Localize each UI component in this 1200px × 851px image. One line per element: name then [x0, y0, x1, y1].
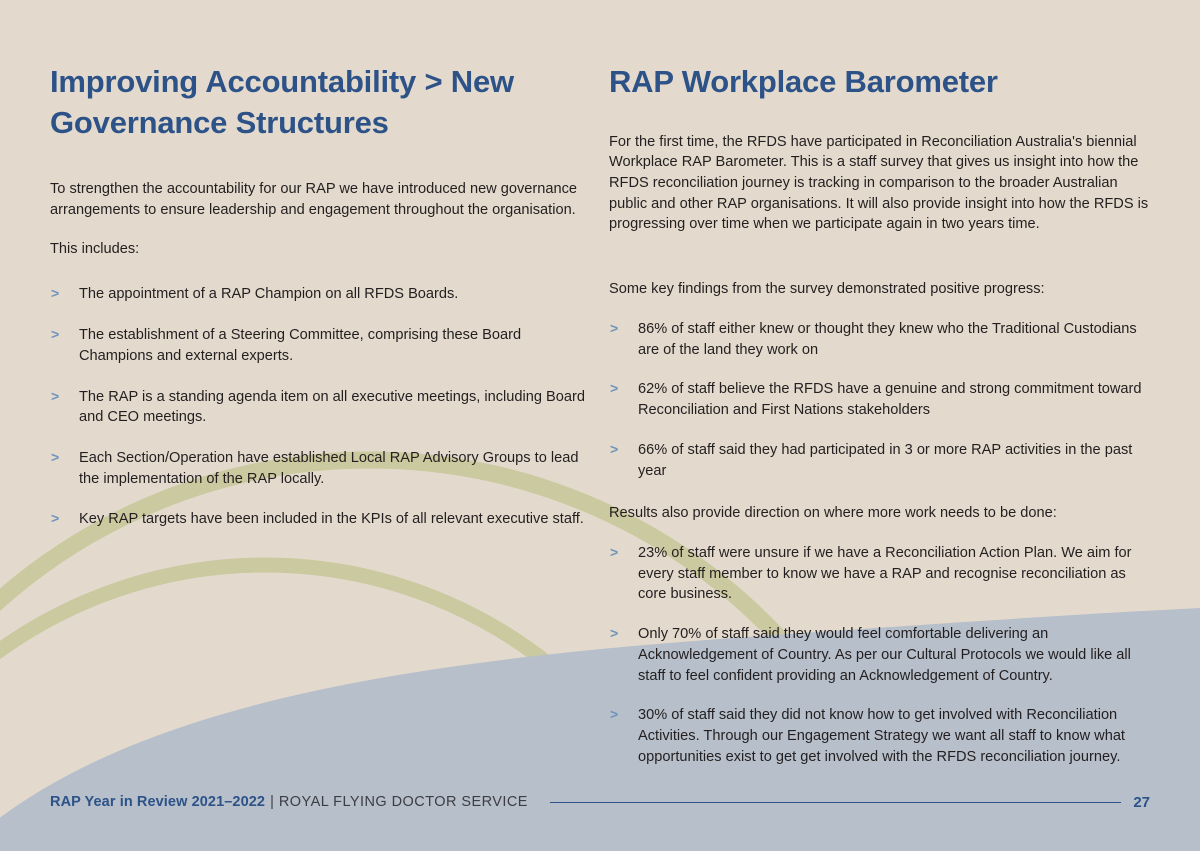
- chevron-right-icon: >: [51, 387, 59, 407]
- page-number: 27: [1133, 794, 1150, 811]
- list-item: > 23% of staff were unsure if we have a …: [609, 543, 1154, 605]
- list-item: > The appointment of a RAP Champion on a…: [50, 284, 595, 305]
- list-item-text: Only 70% of staff said they would feel c…: [638, 626, 1131, 683]
- chevron-right-icon: >: [610, 624, 618, 644]
- list-item-text: 62% of staff believe the RFDS have a gen…: [638, 381, 1142, 418]
- chevron-right-icon: >: [51, 284, 59, 304]
- chevron-right-icon: >: [610, 440, 618, 460]
- list-item-text: Each Section/Operation have established …: [79, 450, 578, 487]
- list-item-text: The RAP is a standing agenda item on all…: [79, 389, 585, 426]
- list-item-text: The establishment of a Steering Committe…: [79, 327, 521, 364]
- chevron-right-icon: >: [51, 448, 59, 468]
- list-item-text: 66% of staff said they had participated …: [638, 442, 1132, 479]
- list-item-text: The appointment of a RAP Champion on all…: [79, 286, 458, 302]
- list-item: > 86% of staff either knew or thought th…: [609, 319, 1154, 360]
- left-intro-this-includes: This includes:: [50, 239, 595, 260]
- list-item: > The establishment of a Steering Commit…: [50, 325, 595, 366]
- list-item: > Only 70% of staff said they would feel…: [609, 624, 1154, 686]
- left-column: Improving Accountability > New Governanc…: [50, 62, 595, 530]
- list-item: > 30% of staff said they did not know ho…: [609, 705, 1154, 767]
- list-item: > The RAP is a standing agenda item on a…: [50, 387, 595, 428]
- right-column: RAP Workplace Barometer For the first ti…: [609, 62, 1154, 767]
- footer-organisation-name: ROYAL FLYING DOCTOR SERVICE: [279, 794, 528, 810]
- list-item-text: 86% of staff either knew or thought they…: [638, 321, 1137, 358]
- footer-report-title: RAP Year in Review 2021–2022: [50, 794, 265, 810]
- list-item: > Each Section/Operation have establishe…: [50, 448, 595, 489]
- improvement-areas-lead-in: Results also provide direction on where …: [609, 503, 1154, 524]
- left-column-heading: Improving Accountability > New Governanc…: [50, 62, 595, 143]
- footer-separator: |: [270, 794, 274, 810]
- chevron-right-icon: >: [610, 319, 618, 339]
- list-item-text: 23% of staff were unsure if we have a Re…: [638, 545, 1131, 602]
- left-governance-bullet-list: > The appointment of a RAP Champion on a…: [50, 284, 595, 530]
- right-intro-paragraph: For the first time, the RFDS have partic…: [609, 132, 1154, 236]
- chevron-right-icon: >: [610, 379, 618, 399]
- footer-divider-rule: [550, 802, 1121, 803]
- list-item-text: Key RAP targets have been included in th…: [79, 511, 584, 527]
- chevron-right-icon: >: [51, 509, 59, 529]
- list-item: > 62% of staff believe the RFDS have a g…: [609, 379, 1154, 420]
- right-column-heading: RAP Workplace Barometer: [609, 62, 1154, 103]
- list-item: > Key RAP targets have been included in …: [50, 509, 595, 530]
- chevron-right-icon: >: [51, 325, 59, 345]
- document-page: Improving Accountability > New Governanc…: [0, 0, 1200, 851]
- chevron-right-icon: >: [610, 543, 618, 563]
- list-item: > 66% of staff said they had participate…: [609, 440, 1154, 481]
- chevron-right-icon: >: [610, 705, 618, 725]
- list-item-text: 30% of staff said they did not know how …: [638, 707, 1125, 764]
- left-intro-paragraph: To strengthen the accountability for our…: [50, 179, 595, 220]
- positive-findings-bullet-list: > 86% of staff either knew or thought th…: [609, 319, 1154, 481]
- improvement-areas-bullet-list: > 23% of staff were unsure if we have a …: [609, 543, 1154, 767]
- page-footer: RAP Year in Review 2021–2022 | ROYAL FLY…: [50, 791, 1150, 813]
- positive-findings-lead-in: Some key findings from the survey demons…: [609, 279, 1154, 300]
